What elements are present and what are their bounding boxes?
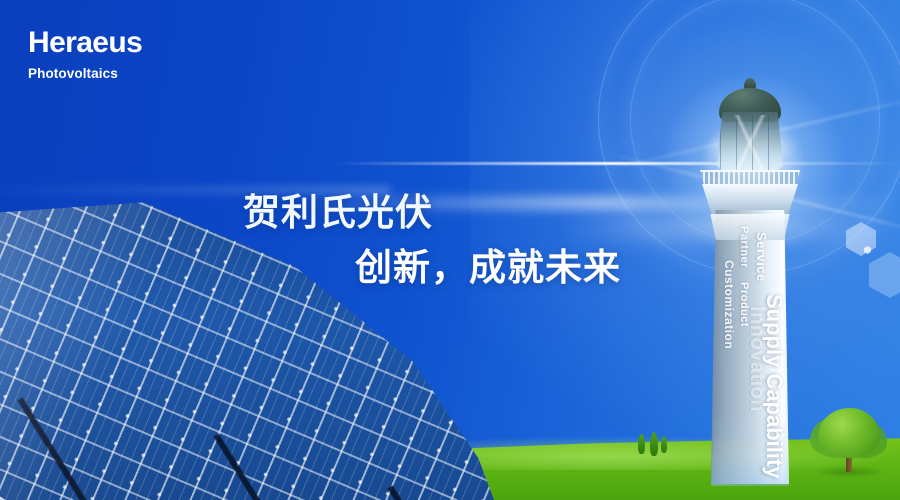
tower-keyword-partner: Partner [738, 226, 749, 268]
lighthouse-railing [698, 170, 802, 186]
headline-line-2: 创新，成就未来 [355, 247, 621, 288]
hexagon-icon-dot [864, 246, 871, 254]
hexagon-icon-small [846, 222, 876, 256]
heraeus-photovoltaics-banner: Service Partner Product Customization In… [0, 0, 900, 500]
tree-crown [818, 408, 880, 458]
light-ray-horizontal-main [330, 162, 900, 165]
headline-line-1: 贺利氏光伏 [243, 192, 621, 233]
brand-name: Heraeus [28, 28, 142, 58]
lighthouse-lantern-room [717, 112, 783, 174]
cypress-tree [650, 432, 658, 456]
hexagon-icon-large [869, 252, 900, 298]
tower-keyword-supply-capability: Supply Capability [763, 294, 785, 479]
tower-keyword-group: Service Partner Product Customization In… [711, 210, 789, 484]
lighthouse: Service Partner Product Customization In… [690, 84, 810, 484]
brand-division: Photovoltaics [28, 67, 142, 81]
tower-keyword-service: Service [755, 232, 768, 282]
tower-keyword-customization: Customization [723, 260, 735, 349]
brand-logo: Heraeus Photovoltaics [28, 28, 142, 81]
headline: 贺利氏光伏 创新，成就未来 [243, 192, 621, 289]
cypress-tree [638, 434, 645, 454]
cypress-tree [661, 436, 667, 453]
